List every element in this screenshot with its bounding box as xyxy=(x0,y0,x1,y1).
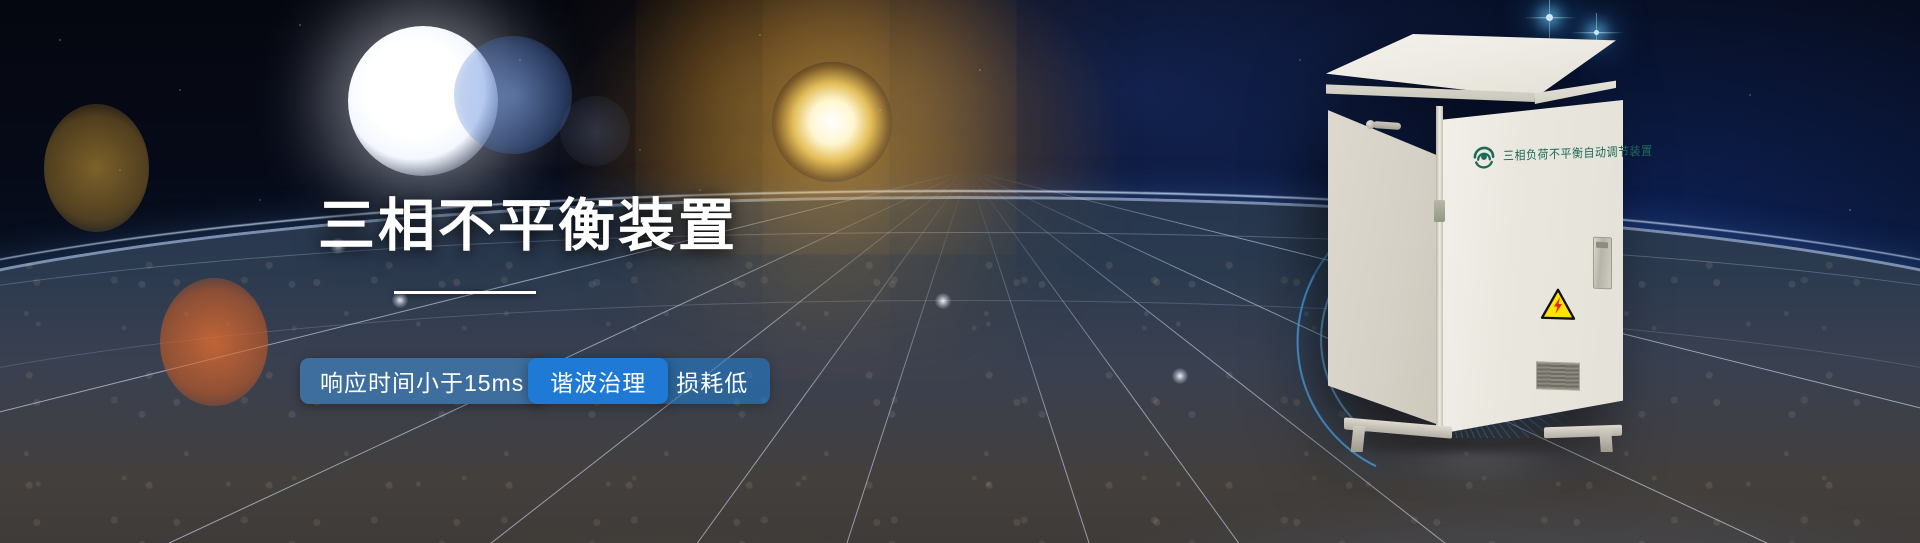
product-reflection xyxy=(1316,452,1616,498)
electrical-hazard-icon xyxy=(1540,287,1576,320)
lens-flare-point xyxy=(392,292,408,308)
title-divider xyxy=(394,291,536,294)
lens-flare-point xyxy=(1172,368,1188,384)
cabinet-vent-grille xyxy=(1536,361,1580,391)
hero-banner: 三相不平衡装置 响应时间小于15ms 谐波治理 损耗低 三相负荷不平衡自动调节装… xyxy=(0,0,1920,543)
amber-bokeh xyxy=(44,104,149,232)
blue-bokeh xyxy=(454,36,572,154)
feature-pill-response-time[interactable]: 响应时间小于15ms xyxy=(300,358,544,404)
cabinet-leg xyxy=(1351,426,1366,452)
orange-bokeh xyxy=(160,278,268,406)
side-lock-bar xyxy=(1373,121,1401,130)
cabinet-leg xyxy=(1599,430,1613,452)
product-cabinet: 三相负荷不平衡自动调节装置 xyxy=(1308,34,1638,454)
door-hinge xyxy=(1434,200,1445,222)
cabinet-side-panel xyxy=(1328,90,1442,426)
sun-light xyxy=(772,62,892,182)
feature-pill-low-loss[interactable]: 损耗低 xyxy=(654,358,770,404)
feature-pill-harmonic[interactable]: 谐波治理 xyxy=(528,358,668,404)
door-handle-slot xyxy=(1596,242,1608,248)
lens-flare-point xyxy=(935,293,951,309)
brand-logo-icon xyxy=(1471,144,1497,171)
banner-copy: 三相不平衡装置 xyxy=(318,196,938,294)
cabinet-model-label: 三相负荷不平衡自动调节装置 xyxy=(1503,141,1653,164)
feature-pill-list: 响应时间小于15ms 谐波治理 损耗低 xyxy=(300,358,770,404)
star-sparkle-icon xyxy=(1546,14,1553,21)
page-title: 三相不平衡装置 xyxy=(318,196,938,258)
dim-bokeh xyxy=(560,96,630,166)
door-seam xyxy=(1436,106,1443,432)
